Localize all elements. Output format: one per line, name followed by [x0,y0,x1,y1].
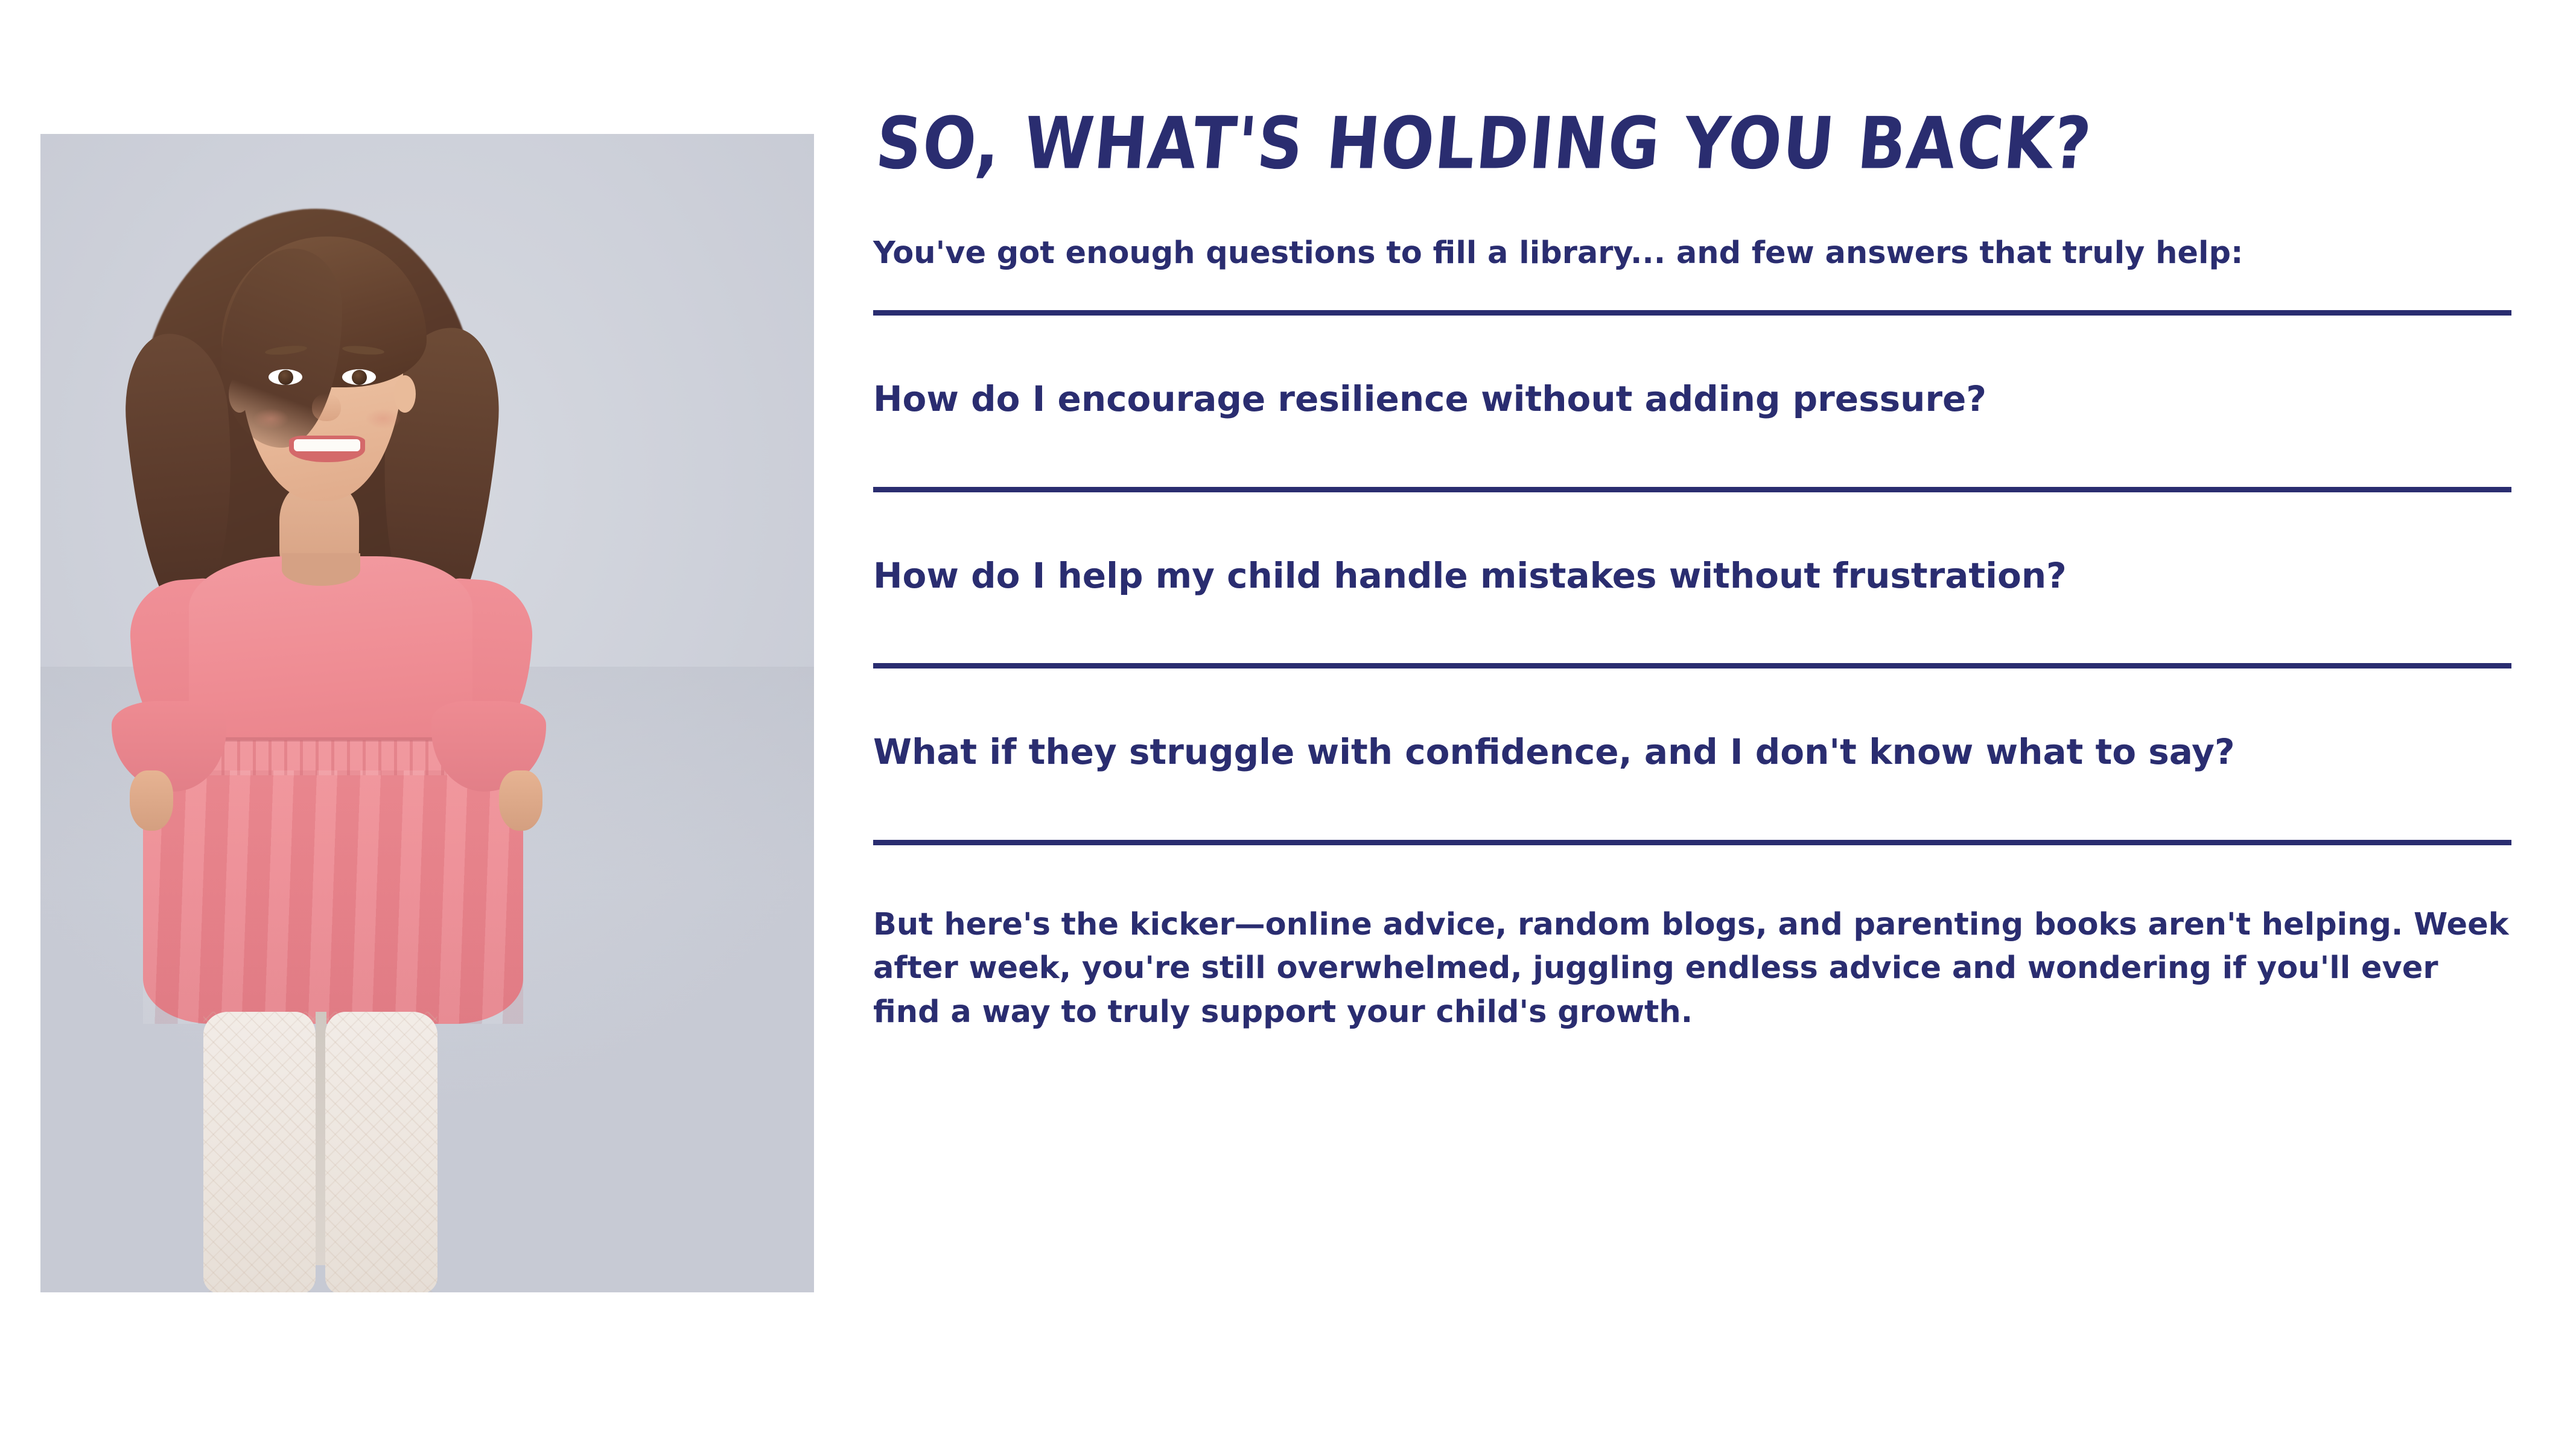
hand-right [499,770,542,831]
legging-right [325,1012,437,1292]
nose [312,393,341,421]
closing-paragraph: But here's the kicker—online advice, ran… [873,845,2514,1034]
hero-photo [40,134,814,1292]
question-item-1: How do I encourage resilience without ad… [873,316,2511,487]
legging-lace-texture-left [203,1012,316,1292]
teeth [294,439,360,451]
divider-rule-2 [873,487,2511,492]
iris-right [352,370,367,385]
question-item-2: How do I help my child handle mistakes w… [873,492,2511,664]
legging-lace-texture-right [325,1012,437,1292]
question-item-3: What if they struggle with confidence, a… [873,668,2511,840]
legging-left [203,1012,316,1292]
slide-canvas: SO, WHAT'S HOLDING YOU BACK? You've got … [0,0,2576,1448]
divider-rule-1 [873,310,2511,316]
cheek-left [253,408,289,429]
page-title: SO, WHAT'S HOLDING YOU BACK? [873,106,2518,182]
cheek-right [365,408,401,429]
collar-neckline [282,553,360,586]
pink-top-bodice [189,556,472,755]
divider-rule-4 [873,840,2511,845]
eye-left [269,369,302,385]
iris-left [278,370,293,385]
divider-rule-3 [873,663,2511,668]
smiling-mouth [289,436,365,462]
child-figure [40,134,814,1292]
subtitle-text: You've got enough questions to fill a li… [873,234,2511,273]
text-column: SO, WHAT'S HOLDING YOU BACK? You've got … [873,115,2511,1034]
eye-right [342,369,376,385]
ear-right [394,375,416,413]
skirt-folds [143,770,523,1024]
hand-left [130,770,173,831]
